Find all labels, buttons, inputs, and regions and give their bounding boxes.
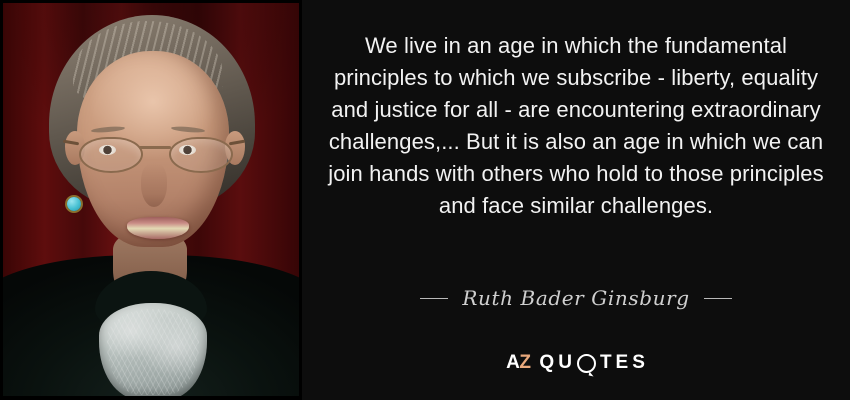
author-name: Ruth Bader Ginsburg	[462, 286, 689, 310]
attribution-rule-right	[704, 298, 732, 299]
logo-az: AZ	[506, 352, 530, 374]
attribution: Ruth Bader Ginsburg	[302, 286, 850, 310]
portrait-photo	[3, 3, 299, 396]
lens-left	[79, 137, 143, 173]
eyeglasses	[69, 133, 241, 173]
lace-jabot	[99, 303, 207, 396]
turquoise-earring	[67, 197, 81, 211]
quote-card: We live in an age in which the fundament…	[0, 0, 850, 400]
logo-letter-e: E	[616, 352, 630, 374]
logo-letter-a: A	[506, 352, 519, 373]
speech-bubble-icon	[577, 354, 596, 373]
attribution-rule-left	[420, 298, 448, 299]
portrait-panel	[0, 0, 302, 400]
logo-letter-q: Q	[539, 352, 555, 374]
logo-letter-s: S	[632, 352, 646, 374]
logo-letter-u: U	[558, 352, 573, 374]
logo-letter-z: Z	[519, 352, 530, 373]
logo-letter-t: T	[600, 352, 613, 374]
quote-text: We live in an age in which the fundament…	[324, 30, 828, 222]
logo-quotes: Q U T E S	[539, 352, 646, 374]
az-quotes-logo[interactable]: AZ Q U T E S	[302, 352, 850, 374]
quote-panel: We live in an age in which the fundament…	[302, 0, 850, 400]
glasses-bridge	[139, 146, 171, 149]
lens-right	[169, 137, 233, 173]
